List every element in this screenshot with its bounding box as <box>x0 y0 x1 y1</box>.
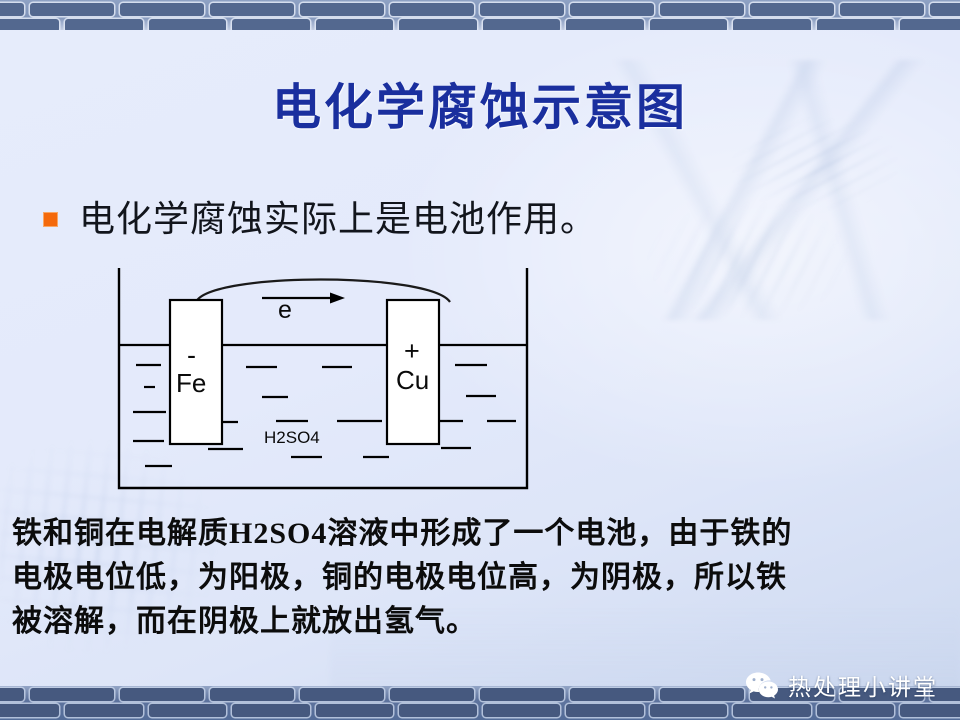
page-title: 电化学腐蚀示意图 <box>0 68 960 139</box>
brick <box>149 704 227 717</box>
brick <box>750 3 834 16</box>
bullet-list-item: 电化学腐蚀实际上是电池作用。 <box>44 190 597 242</box>
brick <box>30 688 114 701</box>
brick <box>210 3 294 16</box>
brick <box>300 688 384 701</box>
brick <box>399 704 477 717</box>
wechat-watermark-label: 热处理小讲堂 <box>788 668 938 702</box>
brick <box>232 704 310 717</box>
brick <box>817 19 895 30</box>
electron-flow-arrow-head <box>330 293 345 304</box>
paragraph-line: 电极电位低，为阳极，铜的电极电位高，为阴极，所以铁 <box>12 556 956 600</box>
brick <box>65 19 143 30</box>
brick <box>0 19 59 30</box>
electron-label: e <box>278 296 292 325</box>
brick <box>390 688 474 701</box>
brick <box>316 704 394 717</box>
brick <box>120 3 204 16</box>
electrode-fe-sign: - <box>187 340 196 371</box>
brick <box>30 3 114 16</box>
background-photo-watermark-detail <box>600 170 900 350</box>
brick <box>65 704 143 717</box>
brick <box>733 704 811 717</box>
brick <box>480 3 564 16</box>
brick <box>483 704 561 717</box>
brick <box>316 19 394 30</box>
connecting-wire <box>196 280 450 303</box>
slide-canvas: 电化学腐蚀示意图 电化学腐蚀实际上是电池作用。 <box>0 0 960 720</box>
electrode-cu-label: Cu <box>396 365 429 396</box>
brick <box>900 704 960 717</box>
square-bullet-icon <box>44 213 57 226</box>
brick <box>660 3 744 16</box>
brick <box>570 688 654 701</box>
electrode-fe-label: Fe <box>176 368 206 399</box>
brick-row-lower <box>0 19 960 30</box>
brick <box>650 704 728 717</box>
brick <box>650 19 728 30</box>
brick <box>566 704 644 717</box>
brick <box>480 688 564 701</box>
explanation-paragraph: 铁和铜在电解质H2SO4溶液中形成了一个电池，由于铁的 电极电位低，为阳极，铜的… <box>12 512 956 644</box>
brick <box>0 3 24 16</box>
brick <box>900 19 960 30</box>
brick-row-lower <box>0 704 960 717</box>
brick <box>390 3 474 16</box>
electrolyte-label: H2SO4 <box>264 428 320 448</box>
wechat-icon <box>745 671 779 699</box>
bullet-item-label: 电化学腐蚀实际上是电池作用。 <box>79 190 597 242</box>
brick <box>733 19 811 30</box>
paragraph-line: 被溶解，而在阴极上就放出氢气。 <box>12 600 956 644</box>
brick <box>149 19 227 30</box>
brick <box>930 3 960 16</box>
brick <box>399 19 477 30</box>
brick <box>817 704 895 717</box>
brick <box>120 688 204 701</box>
brick <box>566 19 644 30</box>
brick <box>300 3 384 16</box>
paragraph-line: 铁和铜在电解质H2SO4溶液中形成了一个电池，由于铁的 <box>12 512 956 556</box>
brick <box>0 704 59 717</box>
brick-row-upper <box>0 3 960 16</box>
brick <box>483 19 561 30</box>
electrode-cu-sign: + <box>404 336 420 367</box>
brick <box>840 3 924 16</box>
brick <box>232 19 310 30</box>
brick <box>660 688 744 701</box>
wechat-watermark: 热处理小讲堂 <box>745 668 938 702</box>
brick <box>210 688 294 701</box>
top-brick-border <box>0 0 960 30</box>
brick <box>570 3 654 16</box>
brick <box>0 688 24 701</box>
